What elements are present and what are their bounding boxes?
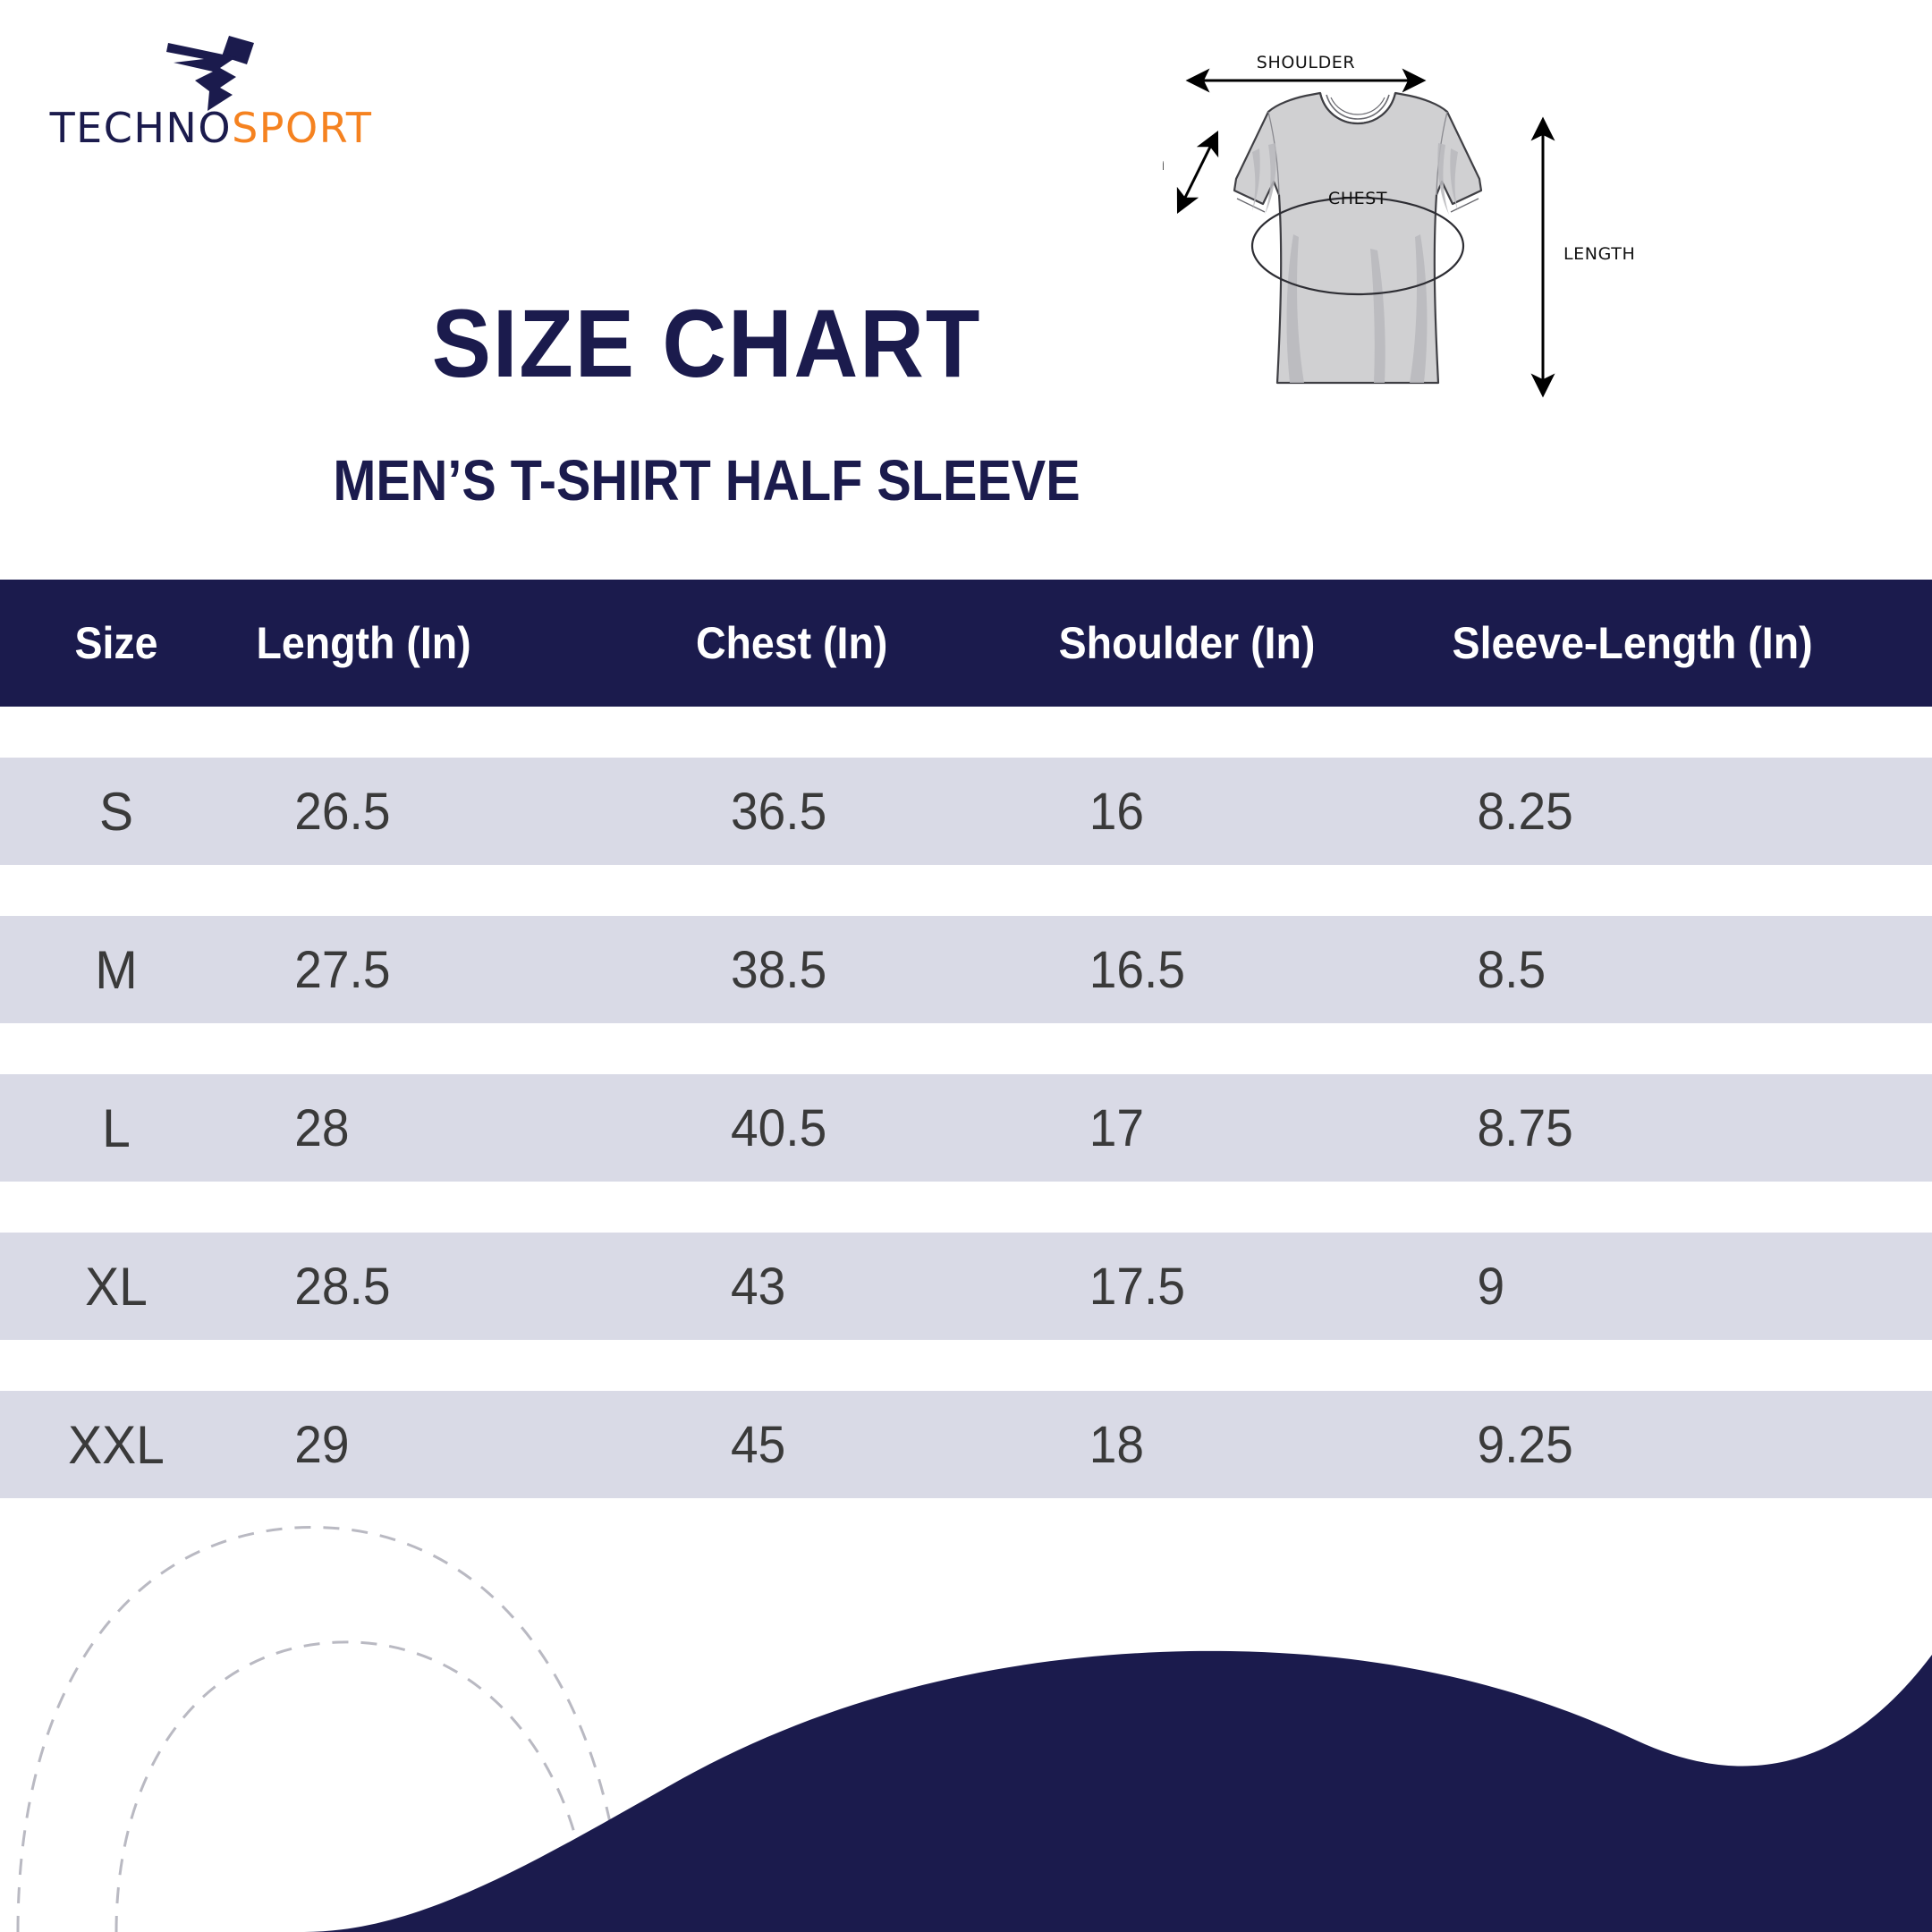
chest-label: CHEST — [1328, 189, 1387, 208]
cell-size: L — [6, 1097, 227, 1159]
running-figure-icon — [150, 25, 258, 111]
cell-length: 28.5 — [243, 1257, 660, 1317]
tshirt-measurement-diagram: SHOULDER — [1163, 45, 1932, 420]
shoulder-label: SHOULDER — [1257, 53, 1355, 72]
brand-wordmark: TECHNOSPORT — [23, 107, 399, 148]
cell-sleeve: 8.25 — [1427, 782, 1919, 842]
cell-sleeve: 8.5 — [1427, 940, 1919, 1000]
row-spacer — [0, 707, 1932, 758]
cell-sleeve: 9.25 — [1427, 1415, 1919, 1475]
cell-chest: 40.5 — [680, 1098, 1020, 1158]
cell-length: 26.5 — [243, 782, 660, 842]
brand-logo: TECHNOSPORT — [23, 25, 399, 159]
cell-sleeve: 9 — [1427, 1257, 1919, 1317]
table-row: L 28 40.5 17 8.75 — [0, 1074, 1932, 1182]
cell-length: 28 — [243, 1098, 660, 1158]
navy-wave-shape — [0, 1651, 1932, 1932]
column-header-size: Size — [8, 617, 225, 669]
cell-size: XL — [6, 1256, 227, 1318]
column-header-chest: Chest (In) — [683, 617, 1016, 669]
row-spacer — [0, 1182, 1932, 1233]
cell-shoulder: 17.5 — [1038, 1257, 1404, 1317]
cell-chest: 38.5 — [680, 940, 1020, 1000]
brand-name-techno: TECHNO — [50, 104, 233, 152]
table-row: M 27.5 38.5 16.5 8.5 — [0, 916, 1932, 1023]
table-body: S 26.5 36.5 16 8.25 M 27.5 38.5 16.5 8.5… — [0, 707, 1932, 1498]
page-title: SIZE CHART — [56, 295, 1357, 392]
cell-shoulder: 18 — [1038, 1415, 1404, 1475]
sleeve-length-label: Sleeve-Length — [1163, 153, 1165, 175]
table-header-row: Size Length (In) Chest (In) Shoulder (In… — [0, 580, 1932, 707]
row-spacer — [0, 1023, 1932, 1074]
cell-shoulder: 16.5 — [1038, 940, 1404, 1000]
cell-length: 27.5 — [243, 940, 660, 1000]
cell-sleeve: 8.75 — [1427, 1098, 1919, 1158]
bottom-decoration — [0, 1467, 1932, 1932]
page-subtitle: MEN’S T-SHIRT HALF SLEEVE — [71, 452, 1343, 509]
column-header-length: Length (In) — [248, 617, 656, 669]
column-header-sleeve-length: Sleeve-Length (In) — [1431, 617, 1913, 669]
table-row: S 26.5 36.5 16 8.25 — [0, 758, 1932, 865]
brand-name-sport: SPORT — [232, 104, 372, 152]
row-spacer — [0, 865, 1932, 916]
cell-shoulder: 16 — [1038, 782, 1404, 842]
cell-size: M — [6, 939, 227, 1001]
cell-chest: 36.5 — [680, 782, 1020, 842]
table-row: XL 28.5 43 17.5 9 — [0, 1233, 1932, 1340]
cell-chest: 43 — [680, 1257, 1020, 1317]
length-label: LENGTH — [1563, 244, 1635, 264]
row-spacer — [0, 1340, 1932, 1391]
cell-size: S — [6, 781, 227, 843]
tshirt-illustration: CHEST — [1234, 93, 1481, 383]
cell-length: 29 — [243, 1415, 660, 1475]
size-table: Size Length (In) Chest (In) Shoulder (In… — [0, 580, 1932, 1498]
size-chart-page: TECHNOSPORT SIZE CHART MEN’S T-SHIRT HAL… — [0, 0, 1932, 1932]
cell-chest: 45 — [680, 1415, 1020, 1475]
column-header-shoulder: Shoulder (In) — [1042, 617, 1400, 669]
sleeve-length-dimension-arrow — [1179, 134, 1216, 210]
cell-shoulder: 17 — [1038, 1098, 1404, 1158]
